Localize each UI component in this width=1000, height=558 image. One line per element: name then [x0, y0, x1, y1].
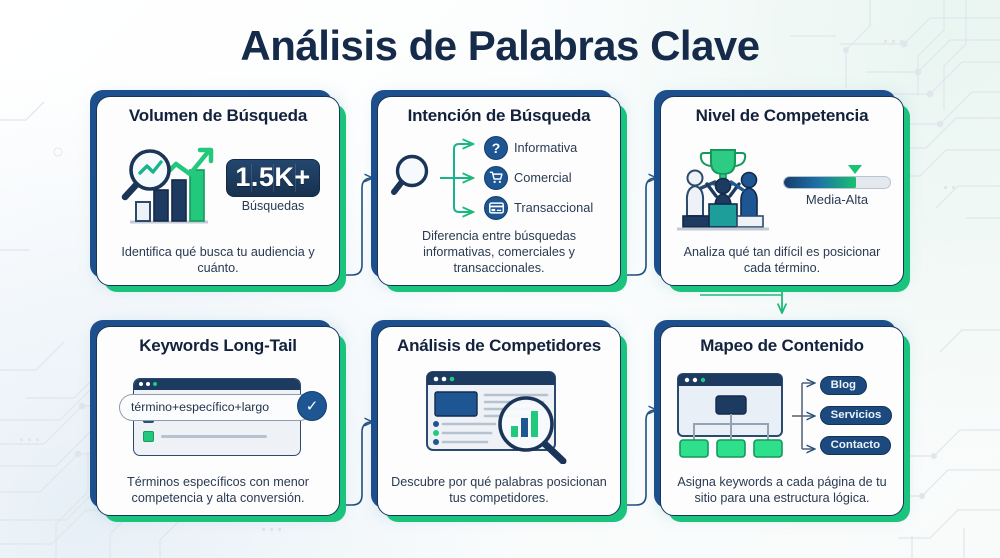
check-badge-icon: ✓: [297, 391, 327, 421]
podium-trophy-icon: [671, 140, 775, 232]
intent-label: Transaccional: [514, 200, 593, 215]
metric-value: 1.5K+: [226, 159, 319, 196]
card-mapeo-de-contenido[interactable]: Mapeo de Contenido: [660, 326, 904, 516]
branch-connector-icon: [440, 135, 480, 221]
magnifier-icon: [390, 151, 436, 205]
gauge-marker-icon: [848, 165, 862, 174]
card-description: Diferencia entre búsquedas informativas,…: [390, 228, 608, 277]
question-mark-icon: ?: [484, 136, 508, 160]
card-nivel-de-competencia[interactable]: Nivel de Competencia: [660, 96, 904, 286]
card-description: Analiza qué tan difícil es posicionar ca…: [673, 244, 891, 277]
card-title: Volumen de Búsqueda: [129, 106, 307, 126]
card-illustration: [390, 356, 608, 474]
card-illustration: 1.5K+ Búsquedas: [109, 126, 327, 244]
card-title: Keywords Long-Tail: [139, 336, 297, 356]
card-volumen-de-busqueda[interactable]: Volumen de Búsqueda 1.5K+: [96, 96, 340, 286]
page-pill-blog[interactable]: Blog: [820, 376, 867, 395]
badge-segment-divider: [295, 164, 296, 191]
card-description: Descubre por qué palabras posicionan tus…: [390, 474, 608, 507]
intent-label: Informativa: [514, 140, 577, 155]
window-dot: [153, 382, 157, 386]
window-dot: [139, 382, 143, 386]
browser-titlebar: [134, 379, 300, 390]
browser-magnifier-chart-icon: [411, 368, 587, 464]
card-description: Identifica qué busca tu audiencia y cuán…: [109, 244, 327, 277]
card-keywords-long-tail[interactable]: Keywords Long-Tail ✓: [96, 326, 340, 516]
card-title: Nivel de Competencia: [696, 106, 869, 126]
gauge-track: [783, 176, 891, 189]
search-input[interactable]: término+específico+largo: [119, 394, 313, 421]
card-illustration: ✓ térmi: [109, 356, 327, 474]
badge-segment-divider: [273, 164, 274, 191]
sitemap-branch-connector-icon: [792, 373, 818, 459]
card-description: Términos específicos con menor competenc…: [109, 474, 327, 507]
card-intencion-de-busqueda[interactable]: Intención de Búsqueda ? Informativa: [377, 96, 621, 286]
credit-card-icon: [484, 196, 508, 220]
gauge-fill: [784, 177, 856, 188]
text-line: [161, 435, 267, 438]
card-analisis-de-competidores[interactable]: Análisis de Competidores: [377, 326, 621, 516]
card-illustration: Media-Alta: [673, 126, 891, 244]
intent-list: ? Informativa Comercial: [484, 136, 593, 220]
card-title: Análisis de Competidores: [397, 336, 601, 356]
card-illustration: ? Informativa Comercial: [390, 126, 608, 228]
card-illustration: Blog Servicios Contacto: [673, 356, 891, 474]
gauge-label: Media-Alta: [806, 192, 868, 207]
metric-caption: Búsquedas: [226, 199, 319, 213]
intent-item-transaccional: Transaccional: [484, 196, 593, 220]
magnifier-bar-chart-icon: [116, 144, 220, 228]
card-title: Mapeo de Contenido: [700, 336, 864, 356]
sitemap-icon: [672, 370, 790, 462]
checkbox-filled-icon: [143, 431, 154, 442]
card-description: Asigna keywords a cada página de tu siti…: [673, 474, 891, 507]
competition-gauge: Media-Alta: [781, 165, 893, 207]
shopping-cart-icon: [484, 166, 508, 190]
page-pill-contacto[interactable]: Contacto: [820, 436, 891, 455]
infographic-canvas: Análisis de Palabras Clave Volumen de Bú…: [0, 0, 1000, 558]
badge-segment-divider: [251, 164, 252, 191]
intent-label: Comercial: [514, 170, 572, 185]
page-pill-servicios[interactable]: Servicios: [820, 406, 893, 425]
intent-item-comercial: Comercial: [484, 166, 593, 190]
page-title: Análisis de Palabras Clave: [0, 22, 1000, 70]
card-title: Intención de Búsqueda: [408, 106, 591, 126]
window-dot: [146, 382, 150, 386]
intent-item-informativa: ? Informativa: [484, 136, 593, 160]
